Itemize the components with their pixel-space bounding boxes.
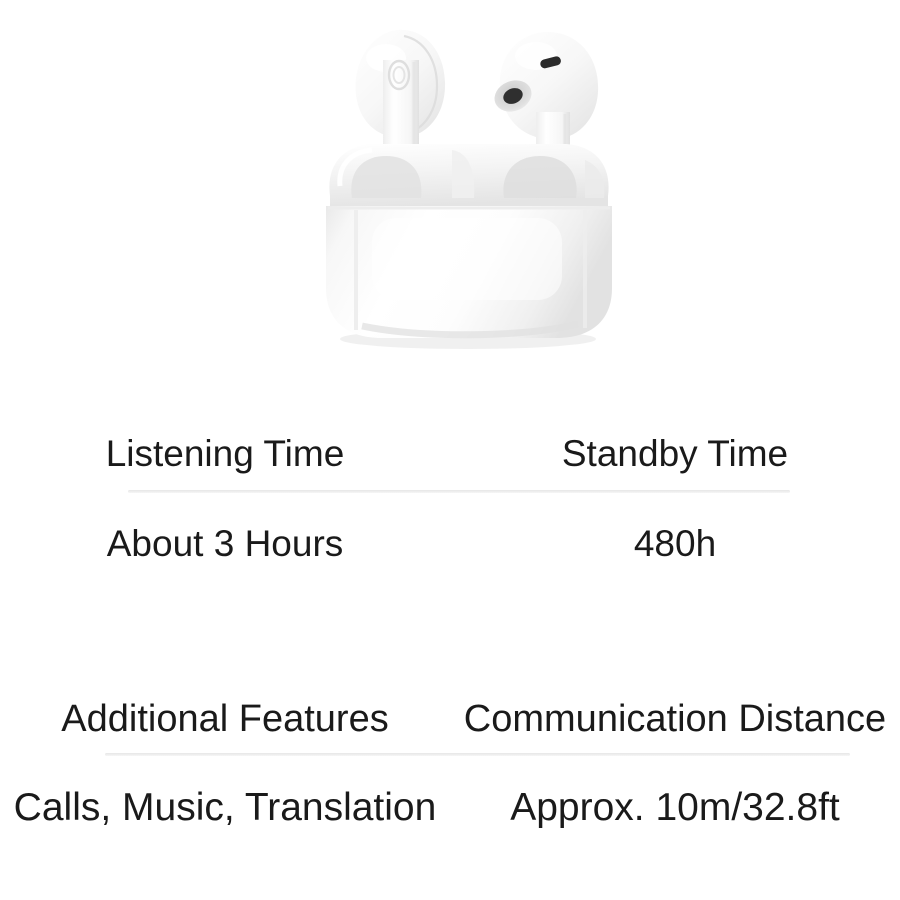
spec-value-standby-time: 480h — [450, 522, 900, 580]
table-divider — [128, 490, 790, 493]
spec-table-features: Additional Features Communication Distan… — [0, 697, 900, 843]
product-image — [0, 0, 900, 400]
table-header-row: Listening Time Standby Time — [0, 432, 900, 490]
spec-header-standby-time: Standby Time — [450, 432, 900, 490]
charging-case-body — [326, 206, 612, 338]
table-value-row: About 3 Hours 480h — [0, 500, 900, 580]
table-divider-wrap — [0, 753, 900, 763]
spec-table-battery: Listening Time Standby Time About 3 Hour… — [0, 432, 900, 580]
charging-case-lid — [329, 144, 608, 208]
spec-header-additional-features: Additional Features — [0, 697, 450, 753]
spec-value-communication-distance: Approx. 10m/32.8ft — [450, 785, 900, 843]
spec-header-communication-distance: Communication Distance — [450, 697, 900, 753]
spec-header-listening-time: Listening Time — [0, 432, 450, 490]
spec-value-additional-features: Calls, Music, Translation — [0, 785, 450, 843]
table-header-row: Additional Features Communication Distan… — [0, 697, 900, 753]
product-spec-page: Listening Time Standby Time About 3 Hour… — [0, 0, 900, 900]
table-value-row: Calls, Music, Translation Approx. 10m/32… — [0, 763, 900, 843]
table-divider-wrap — [0, 490, 900, 500]
earbuds-illustration — [0, 0, 900, 400]
spec-value-listening-time: About 3 Hours — [0, 522, 450, 580]
table-divider — [105, 753, 850, 756]
